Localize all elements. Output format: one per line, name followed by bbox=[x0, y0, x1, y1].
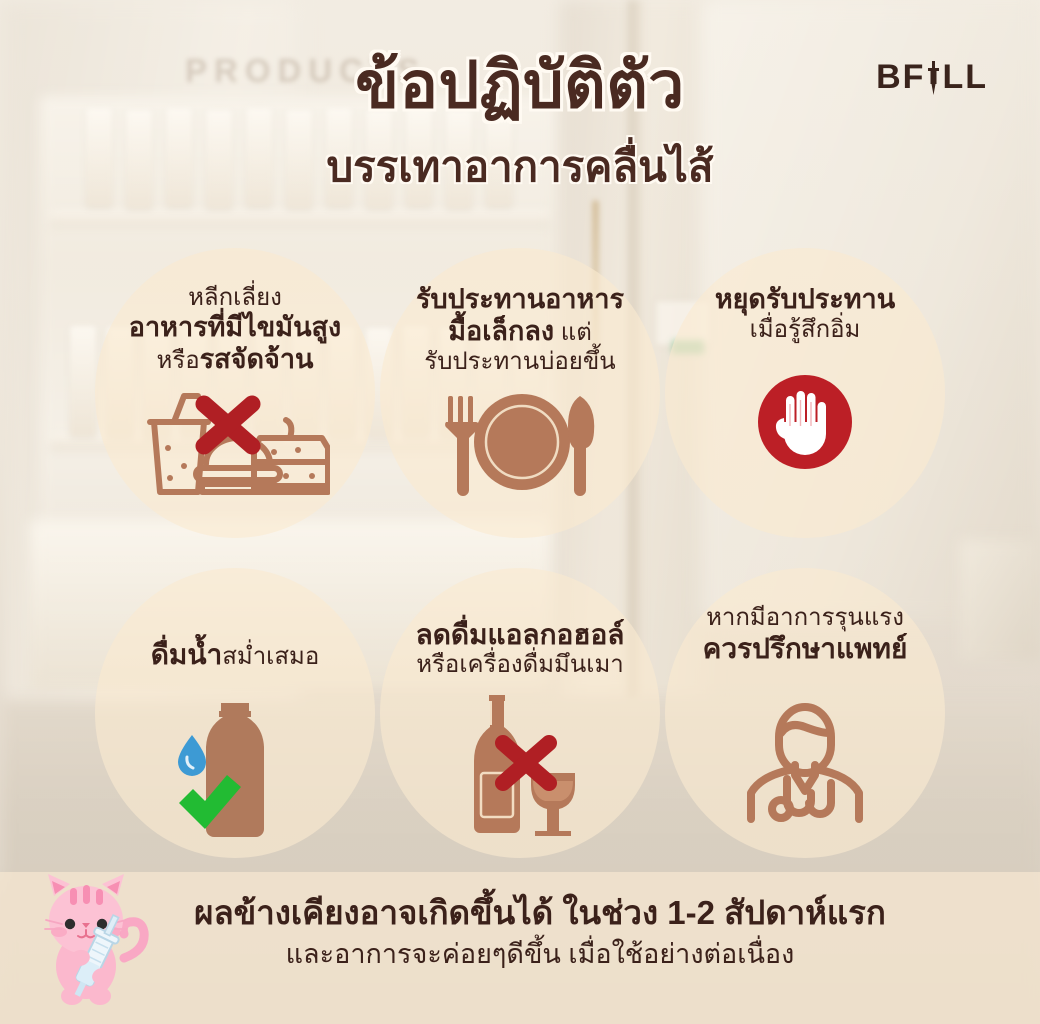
tip-text: หยุดรับประทาน เมื่อรู้สึกอิ่ม bbox=[715, 284, 895, 344]
plate-fork-knife-icon bbox=[430, 386, 610, 496]
footer-line-2: และอาการจะค่อยๆดีขึ้น เมื่อใช้อย่างต่อเน… bbox=[150, 937, 930, 972]
brand-text-left: BF bbox=[876, 58, 925, 97]
alcohol-crossed-icon bbox=[445, 691, 595, 836]
tip-line-part: แต่ bbox=[554, 319, 592, 346]
stop-hand-icon bbox=[755, 372, 855, 472]
tip-line: หยุดรับประทาน bbox=[715, 284, 895, 316]
tip-line-part: มื้อเล็กลง bbox=[448, 316, 554, 346]
tip-line: หลีกเลี่ยง bbox=[129, 284, 341, 312]
tip-line: ดื่มน้ำสม่ำเสมอ bbox=[151, 638, 320, 671]
tip-line: หรือเครื่องดื่มมึนเมา bbox=[416, 651, 625, 679]
tip-line-part: หรือ bbox=[157, 347, 200, 374]
tip-bubble-avoid-fatty-spicy-food[interactable]: หลีกเลี่ยง อาหารที่มีไขมันสูง หรือรสจัดจ… bbox=[95, 248, 375, 538]
page-subtitle: บรรเทาอาการคลื่นไส้ bbox=[0, 144, 1040, 190]
tip-line: ควรปรึกษาแพทย์ bbox=[703, 632, 908, 665]
tip-line: มื้อเล็กลง แต่ bbox=[416, 316, 624, 348]
tip-bubble-drink-water-regularly[interactable]: ดื่มน้ำสม่ำเสมอ bbox=[95, 568, 375, 858]
tip-line: หรือรสจัดจ้าน bbox=[129, 344, 341, 376]
syringe-icon bbox=[925, 61, 942, 95]
doctor-stethoscope-icon bbox=[735, 685, 875, 825]
footer-text: ผลข้างเคียงอาจเกิดขึ้นได้ ในช่วง 1-2 สัป… bbox=[150, 892, 930, 972]
junk-food-crossed-icon bbox=[140, 386, 330, 498]
tip-line: อาหารที่มีไขมันสูง bbox=[129, 312, 341, 344]
footer-line-1: ผลข้างเคียงอาจเกิดขึ้นได้ ในช่วง 1-2 สัป… bbox=[150, 892, 930, 933]
brand-logo: BF LL bbox=[876, 58, 988, 97]
tip-bubble-consult-doctor[interactable]: หากมีอาการรุนแรง ควรปรึกษาแพทย์ bbox=[665, 568, 945, 858]
tip-bubble-reduce-alcohol[interactable]: ลดดื่มแอลกอฮอล์ หรือเครื่องดื่มมึนเมา bbox=[380, 568, 660, 858]
cat-with-syringe-icon bbox=[24, 872, 156, 1012]
tip-text: หากมีอาการรุนแรง ควรปรึกษาแพทย์ bbox=[703, 604, 908, 665]
tip-line: เมื่อรู้สึกอิ่ม bbox=[715, 316, 895, 344]
tip-bubble-eat-smaller-more-often[interactable]: รับประทานอาหาร มื้อเล็กลง แต่ รับประทานบ… bbox=[380, 248, 660, 538]
tip-text: หลีกเลี่ยง อาหารที่มีไขมันสูง หรือรสจัดจ… bbox=[129, 284, 341, 376]
tip-line-part: สม่ำเสมอ bbox=[222, 643, 319, 670]
tip-text: ลดดื่มแอลกอฮอล์ หรือเครื่องดื่มมึนเมา bbox=[416, 618, 625, 679]
tip-line: รับประทานบ่อยขึ้น bbox=[416, 348, 624, 376]
tip-line: รับประทานอาหาร bbox=[416, 284, 624, 316]
tip-text: ดื่มน้ำสม่ำเสมอ bbox=[151, 638, 320, 671]
tip-bubble-stop-when-full[interactable]: หยุดรับประทาน เมื่อรู้สึกอิ่ม bbox=[665, 248, 945, 538]
tip-line-part: ดื่มน้ำ bbox=[151, 639, 223, 670]
water-bottle-check-icon bbox=[165, 693, 305, 853]
infographic-poster: PRODUCTS ข้อปฏิบัติตัว บรรเทาอาการคลื่นไ… bbox=[0, 0, 1040, 1024]
tip-text: รับประทานอาหาร มื้อเล็กลง แต่ รับประทานบ… bbox=[416, 284, 624, 376]
brand-text-right: LL bbox=[942, 58, 988, 97]
tip-line: หากมีอาการรุนแรง bbox=[703, 604, 908, 632]
tip-line-part: รสจัดจ้าน bbox=[200, 344, 314, 374]
tip-line: ลดดื่มแอลกอฮอล์ bbox=[416, 618, 625, 651]
